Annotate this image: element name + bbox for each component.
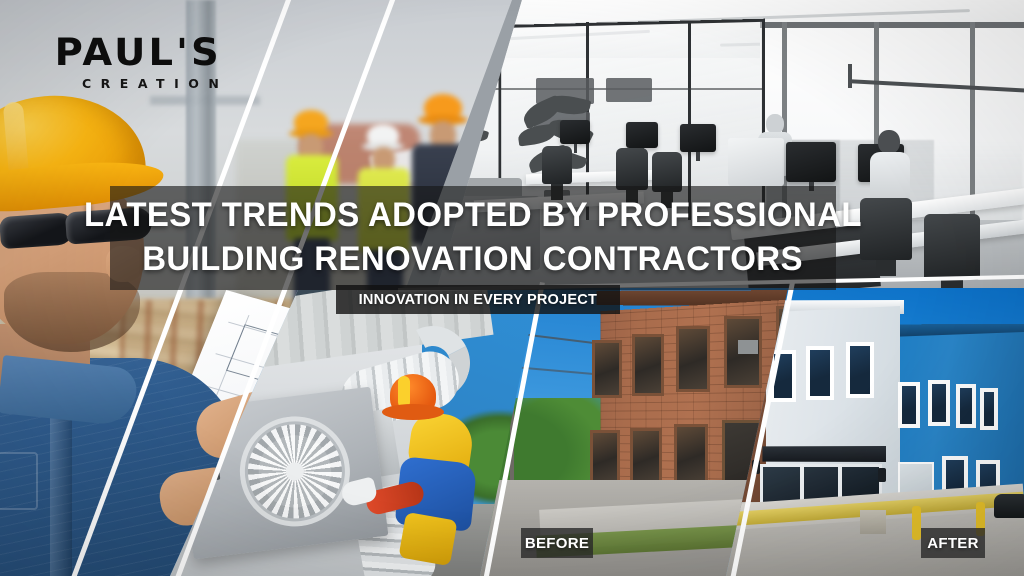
headline-banner: LATEST TRENDS ADOPTED BY PROFESSIONAL BU… <box>110 186 836 290</box>
helmet-brim <box>382 404 444 420</box>
yellow-bollard <box>912 506 921 540</box>
old-window <box>592 340 622 398</box>
window-header <box>760 22 1024 28</box>
monitor <box>786 142 836 182</box>
shirt-pocket <box>0 452 38 510</box>
new-window <box>928 380 950 426</box>
headline-line-2: BUILDING RENOVATION CONTRACTORS <box>143 238 804 282</box>
monitor <box>680 124 716 152</box>
planter-box <box>860 510 886 534</box>
technician-leg <box>398 512 457 566</box>
office-chair <box>860 198 912 260</box>
monitor <box>626 122 658 148</box>
storefront-awning <box>762 446 886 462</box>
new-window <box>806 346 834 400</box>
monitor <box>560 120 590 144</box>
new-window <box>846 342 874 398</box>
office-chair <box>542 146 572 184</box>
after-label: AFTER <box>921 528 985 558</box>
subtitle-text: INNOVATION IN EVERY PROJECT <box>359 291 597 308</box>
renovation-banner: PAUL'S CREATION LATEST TRENDS ADOPTED BY… <box>0 0 1024 576</box>
logo-primary-text: PAUL'S <box>55 34 232 71</box>
office-chair <box>924 214 980 280</box>
subtitle-banner: INNOVATION IN EVERY PROJECT <box>336 285 620 314</box>
wall-panel <box>606 78 652 102</box>
shirt-placket <box>50 396 72 576</box>
new-window <box>980 388 998 430</box>
new-window <box>898 382 920 428</box>
wall-lamp <box>752 460 760 474</box>
parked-car <box>994 494 1024 518</box>
wall-lamp <box>878 468 886 482</box>
new-window <box>770 350 796 402</box>
pendant-lamp-stem <box>848 64 852 88</box>
old-window <box>590 430 620 486</box>
hvac-technician <box>376 374 496 554</box>
office-chair <box>616 148 648 190</box>
headline-line-1: LATEST TRENDS ADOPTED BY PROFESSIONAL <box>84 194 862 238</box>
condenser-fan <box>234 410 357 533</box>
old-window <box>632 334 664 396</box>
window-ac-unit <box>738 340 758 354</box>
new-window <box>956 384 976 428</box>
before-label: BEFORE <box>521 528 593 558</box>
logo-secondary-text: CREATION <box>82 76 228 91</box>
old-window <box>676 326 710 392</box>
old-window <box>674 424 708 486</box>
brand-logo[interactable]: PAUL'S CREATION <box>58 34 228 91</box>
old-window <box>630 428 662 486</box>
computer-display <box>728 138 784 186</box>
